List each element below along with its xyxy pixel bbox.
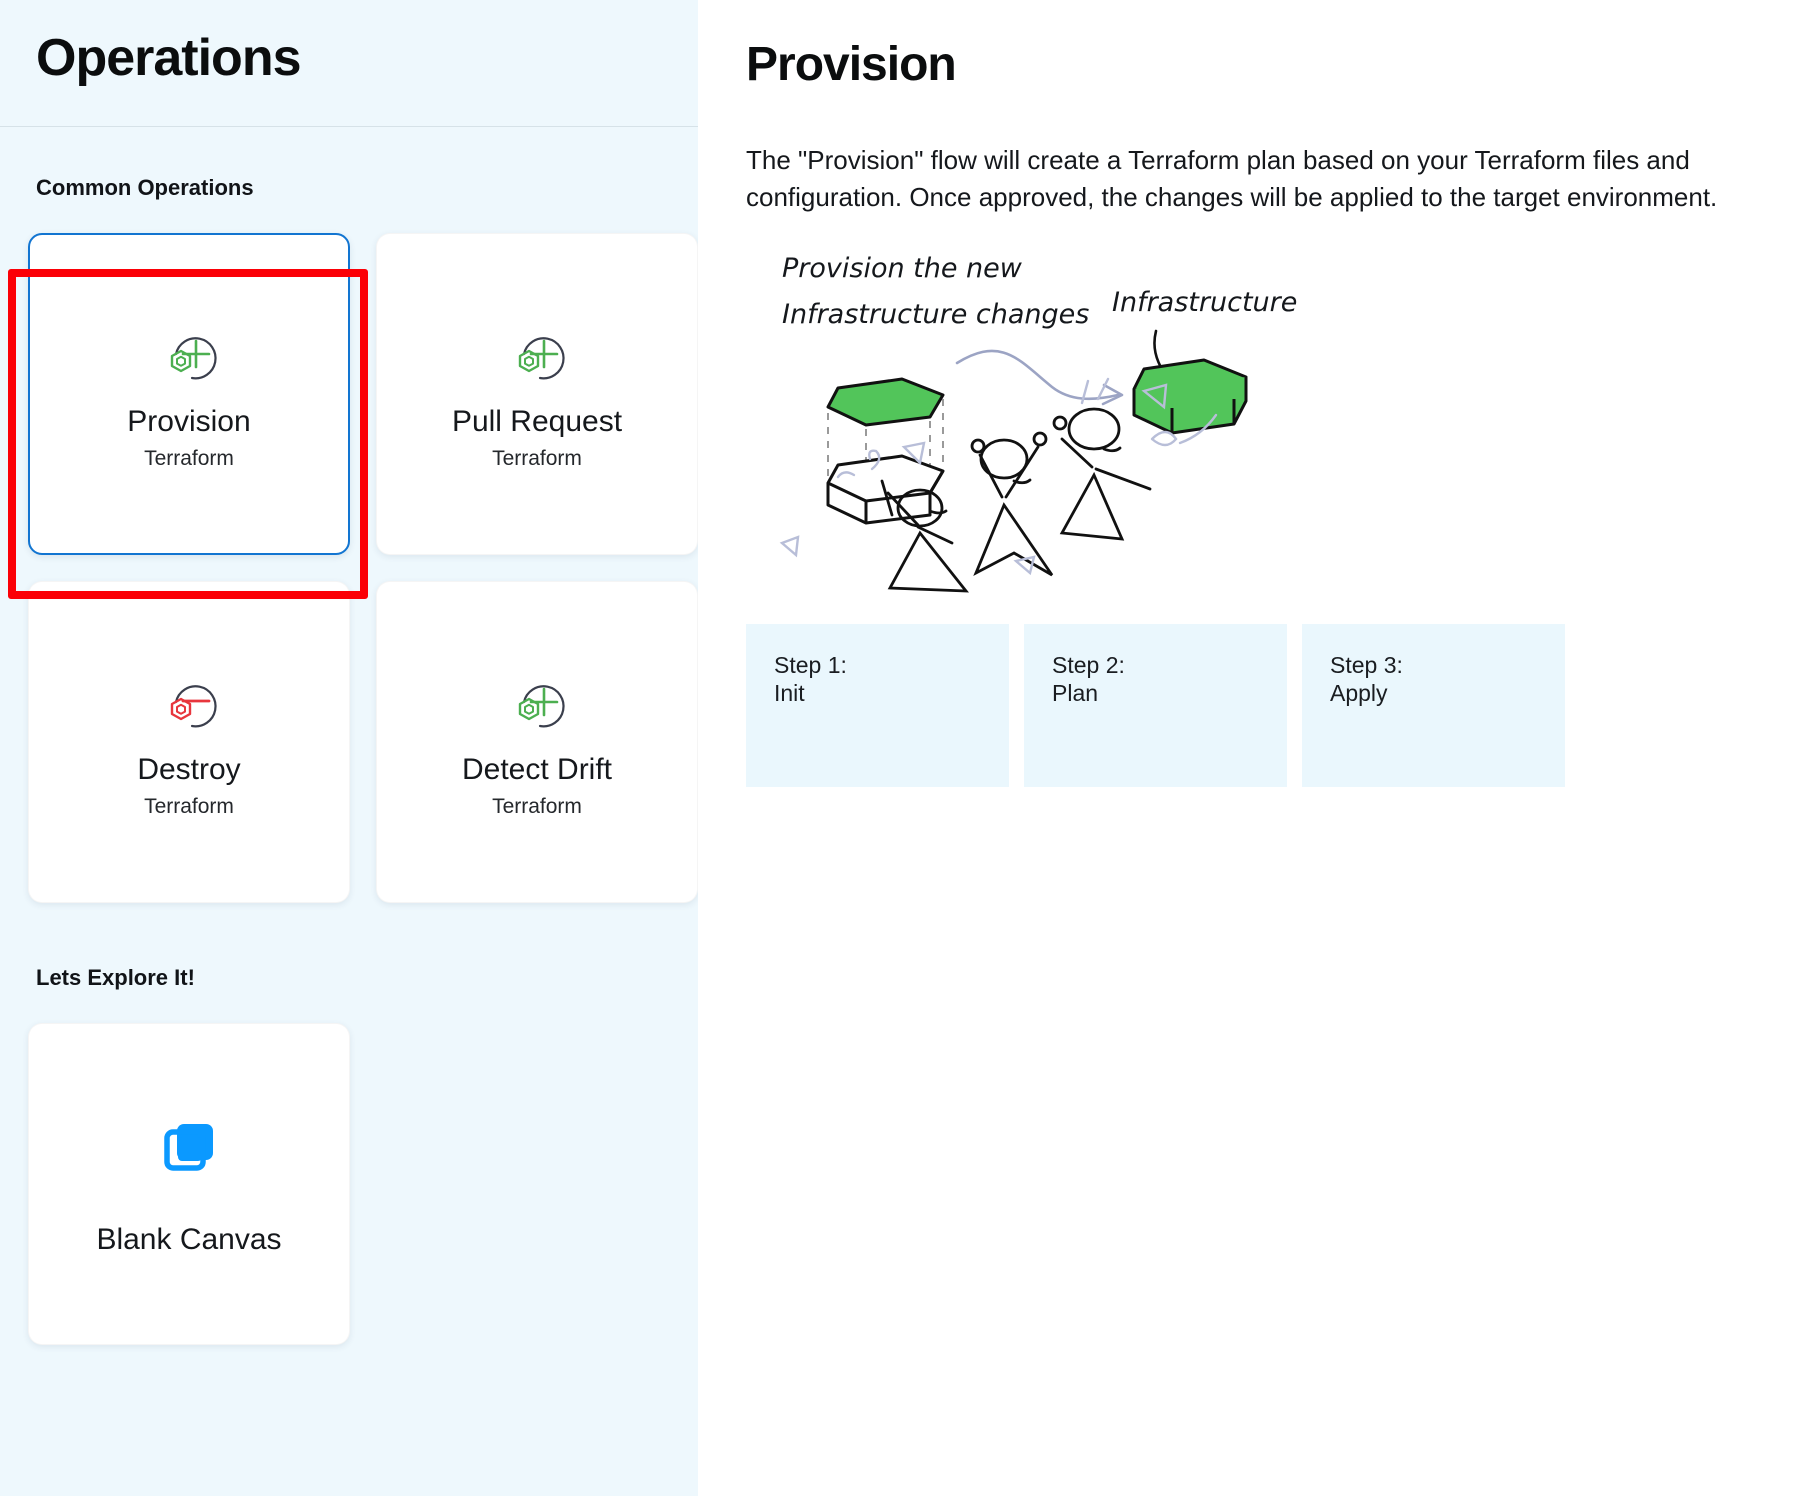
detail-panel: Provision The "Provision" flow will crea…: [698, 0, 1800, 1496]
operation-card-title: Pull Request: [452, 405, 622, 438]
plus-circle-hexagon-icon: [146, 317, 232, 395]
step-heading: Step 1:: [774, 651, 1009, 679]
operation-card-pull-request[interactable]: Pull Request Terraform: [376, 233, 698, 555]
section-heading-lets-explore-it: Lets Explore It!: [0, 903, 698, 991]
operation-card-subtitle: Terraform: [144, 795, 234, 819]
step-name: Apply: [1330, 679, 1565, 707]
operation-card-title: Detect Drift: [462, 753, 612, 786]
illustration-label-right: Infrastructure: [1112, 287, 1297, 318]
operation-card-subtitle: Terraform: [144, 447, 234, 471]
common-operations-grid: Provision Terraform Pull Request Terrafo…: [0, 201, 698, 903]
celebrating-people-sketch: [882, 409, 1150, 591]
illustration-label-left-line1: Provision the new: [782, 253, 1023, 284]
operation-card-blank-canvas[interactable]: Blank Canvas: [28, 1023, 350, 1345]
operation-card-title: Destroy: [137, 753, 240, 786]
operation-card-detect-drift[interactable]: Detect Drift Terraform: [376, 581, 698, 903]
overlapping-squares-icon: [153, 1112, 225, 1189]
step-name: Init: [774, 679, 1009, 707]
steps-row: Step 1: Init Step 2: Plan Step 3: Apply: [746, 624, 1740, 787]
section-heading-common-operations: Common Operations: [0, 127, 698, 201]
provision-flow-illustration: Provision the new Infrastructure changes…: [752, 243, 1740, 608]
step-box-3: Step 3: Apply: [1302, 624, 1565, 787]
operation-card-subtitle: Terraform: [492, 447, 582, 471]
illustration-label-left-line2: Infrastructure changes: [782, 299, 1089, 330]
plus-circle-hexagon-icon: [494, 665, 580, 743]
operations-sidebar: Operations Common Operations Provision T…: [0, 0, 698, 1496]
page-title: Operations: [0, 0, 698, 88]
step-box-1: Step 1: Init: [746, 624, 1009, 787]
hexagon-sketch-left: [828, 379, 943, 523]
operations-screen: Operations Common Operations Provision T…: [0, 0, 1800, 1496]
detail-description: The "Provision" flow will create a Terra…: [746, 142, 1740, 216]
operation-card-provision[interactable]: Provision Terraform: [28, 233, 350, 555]
detail-title: Provision: [746, 36, 1740, 94]
operation-card-title: Blank Canvas: [96, 1223, 281, 1257]
minus-circle-hexagon-icon: [146, 665, 232, 743]
operation-card-subtitle: Terraform: [492, 795, 582, 819]
explore-grid: Blank Canvas: [0, 991, 698, 1345]
operation-card-title: Provision: [127, 405, 250, 438]
step-heading: Step 2:: [1052, 651, 1287, 679]
step-box-2: Step 2: Plan: [1024, 624, 1287, 787]
operation-card-destroy[interactable]: Destroy Terraform: [28, 581, 350, 903]
plus-circle-hexagon-icon: [494, 317, 580, 395]
step-name: Plan: [1052, 679, 1287, 707]
step-heading: Step 3:: [1330, 651, 1565, 679]
